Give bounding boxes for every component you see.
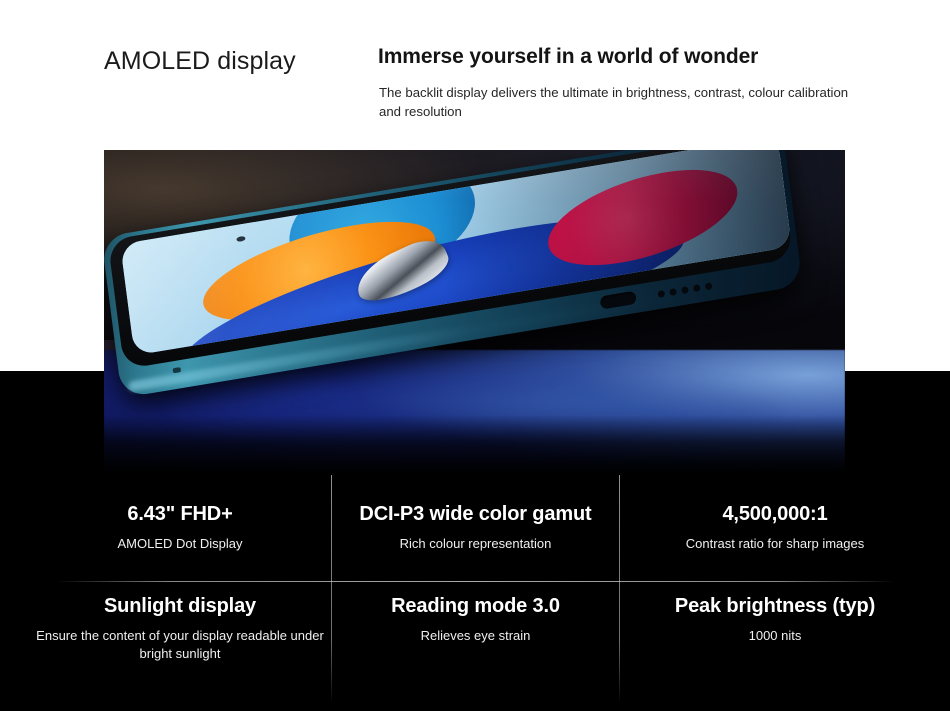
speaker-hole — [669, 288, 677, 296]
spec-title: 6.43" FHD+ — [30, 503, 330, 526]
feature-header: AMOLED display Immerse yourself in a wor… — [0, 0, 950, 150]
product-feature-page: AMOLED display Immerse yourself in a wor… — [0, 0, 950, 711]
spec-cell-sunlight-display: Sunlight display Ensure the content of y… — [30, 595, 330, 664]
speaker-hole — [705, 282, 713, 290]
spec-desc: Rich colour representation — [332, 535, 619, 553]
grid-divider-horizontal — [55, 581, 895, 582]
specs-grid: 6.43" FHD+ AMOLED Dot Display DCI-P3 wid… — [0, 475, 950, 711]
spec-title: 4,500,000:1 — [620, 503, 930, 526]
spec-cell-peak-brightness: Peak brightness (typ) 1000 nits — [620, 595, 930, 645]
speaker-hole — [681, 286, 689, 294]
spec-title: DCI-P3 wide color gamut — [332, 503, 619, 526]
speaker-hole — [693, 284, 701, 292]
hero-product-image — [104, 150, 845, 475]
spec-desc: Ensure the content of your display reada… — [30, 627, 330, 664]
subheadline: The backlit display delivers the ultimat… — [379, 83, 859, 121]
spec-desc: AMOLED Dot Display — [30, 535, 330, 553]
spec-title: Peak brightness (typ) — [620, 595, 930, 618]
spec-desc: 1000 nits — [620, 627, 930, 645]
spec-title: Reading mode 3.0 — [332, 595, 619, 618]
spec-title: Sunlight display — [30, 595, 330, 618]
spec-cell-color-gamut: DCI-P3 wide color gamut Rich colour repr… — [332, 503, 619, 553]
headline: Immerse yourself in a world of wonder — [378, 45, 758, 69]
spec-desc: Relieves eye strain — [332, 627, 619, 645]
hero-bottom-fade — [104, 415, 845, 475]
spec-desc: Contrast ratio for sharp images — [620, 535, 930, 553]
section-title: AMOLED display — [104, 47, 296, 76]
spec-cell-contrast-ratio: 4,500,000:1 Contrast ratio for sharp ima… — [620, 503, 930, 553]
speaker-grille — [657, 282, 712, 298]
speaker-hole — [657, 290, 665, 298]
spec-cell-display-size: 6.43" FHD+ AMOLED Dot Display — [30, 503, 330, 553]
spec-cell-reading-mode: Reading mode 3.0 Relieves eye strain — [332, 595, 619, 645]
